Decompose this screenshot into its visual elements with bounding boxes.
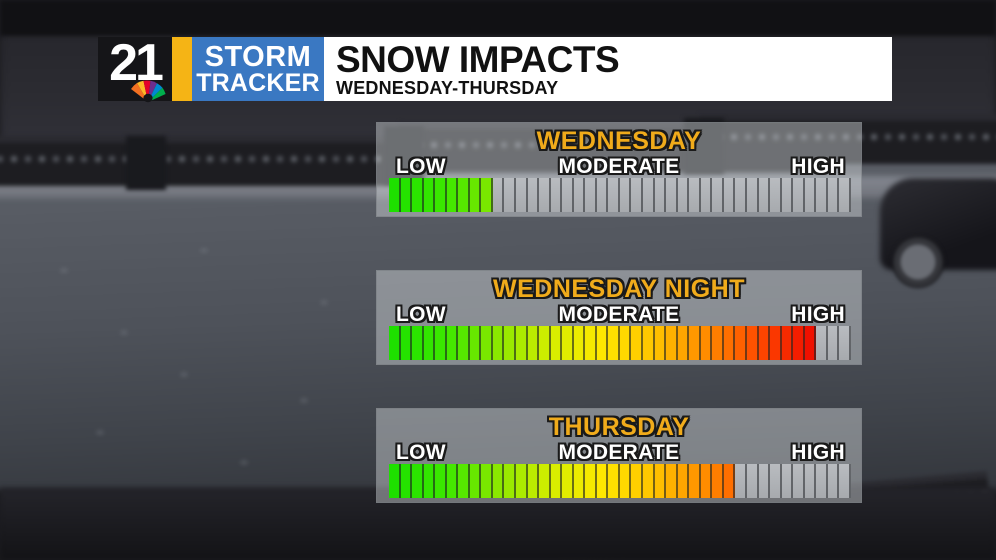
gauge-segment-filled: [447, 178, 459, 212]
gauge-segment-filled: [597, 326, 609, 360]
gauge-segment-filled: [793, 326, 805, 360]
railing-left: [0, 140, 400, 186]
gauge-segment-filled: [539, 326, 551, 360]
gauge-segment-filled: [782, 326, 794, 360]
gauge-segment-empty: [516, 178, 528, 212]
brand-line-2: TRACKER: [196, 71, 320, 96]
gauge-segment-empty: [689, 178, 701, 212]
gauge-segment-empty: [735, 178, 747, 212]
gauge-segment-filled: [470, 464, 482, 498]
gauge-segment-filled: [631, 326, 643, 360]
gauge-segment-empty: [747, 464, 759, 498]
header-bar: 21 STORM TRACKER SNOW IMPACTS WEDNESDAY-…: [98, 37, 892, 101]
gauge-segment-filled: [585, 326, 597, 360]
gauge-segment-empty: [724, 178, 736, 212]
gauge-segment-filled: [458, 326, 470, 360]
gauge-segment-empty: [551, 178, 563, 212]
car-wheel: [892, 236, 944, 288]
nbc-peacock-icon: [125, 73, 171, 103]
gauge-segment-empty: [770, 178, 782, 212]
gauge-segment-filled: [435, 326, 447, 360]
page-title: SNOW IMPACTS: [336, 41, 892, 79]
gauge-segment-filled: [805, 326, 817, 360]
gauge-segment-filled: [585, 464, 597, 498]
gauge-segment-empty: [759, 464, 771, 498]
gauge-segment-filled: [689, 464, 701, 498]
gauge-segment-filled: [401, 178, 413, 212]
gauge-segment-filled: [458, 464, 470, 498]
gauge-segment-filled: [516, 464, 528, 498]
gauge-segment-filled: [724, 464, 736, 498]
gauge-segment-filled: [504, 464, 516, 498]
gauge-segment-filled: [481, 326, 493, 360]
gauge-segment-empty: [793, 178, 805, 212]
gauge-segment-empty: [805, 178, 817, 212]
gauge-segment-filled: [712, 326, 724, 360]
gauge-segment-filled: [424, 326, 436, 360]
gauge-segment-empty: [828, 326, 840, 360]
gauge-segment-filled: [643, 326, 655, 360]
background-top-shadow: [0, 0, 996, 36]
logo-accent-bar: [172, 37, 192, 101]
gauge-segment-empty: [782, 464, 794, 498]
gauge-segment-filled: [597, 464, 609, 498]
impact-gauge: [389, 326, 851, 360]
gauge-segment-empty: [839, 464, 851, 498]
impact-panel-wednesday-night: WEDNESDAY NIGHT LOW MODERATE HIGH: [376, 270, 862, 365]
gauge-segment-empty: [574, 178, 586, 212]
gauge-segment-filled: [481, 464, 493, 498]
gauge-segment-filled: [759, 326, 771, 360]
gauge-segment-filled: [712, 464, 724, 498]
gauge-segment-empty: [608, 178, 620, 212]
gauge-segment-filled: [401, 326, 413, 360]
gauge-segment-filled: [689, 326, 701, 360]
impact-panel-wednesday: WEDNESDAY LOW MODERATE HIGH: [376, 122, 862, 217]
gauge-segment-empty: [655, 178, 667, 212]
railing-post-1: [126, 136, 166, 190]
impact-gauge: [389, 178, 851, 212]
gauge-segment-filled: [389, 464, 401, 498]
storm-tracker-brand: STORM TRACKER: [192, 37, 324, 101]
gauge-segment-filled: [447, 326, 459, 360]
gauge-segment-filled: [701, 326, 713, 360]
title-block: SNOW IMPACTS WEDNESDAY-THURSDAY: [324, 37, 892, 101]
gauge-segment-filled: [412, 326, 424, 360]
gauge-segment-filled: [412, 464, 424, 498]
gauge-segment-filled: [735, 326, 747, 360]
panel-title: WEDNESDAY: [377, 127, 861, 156]
scale-label-high: HIGH: [791, 441, 845, 465]
brand-line-1: STORM: [205, 43, 312, 71]
gauge-segment-filled: [504, 326, 516, 360]
gauge-segment-empty: [701, 178, 713, 212]
panel-title: WEDNESDAY NIGHT: [377, 275, 861, 304]
gauge-segment-empty: [712, 178, 724, 212]
gauge-segment-empty: [828, 178, 840, 212]
gauge-segment-empty: [528, 178, 540, 212]
gauge-segment-filled: [701, 464, 713, 498]
impact-gauge: [389, 464, 851, 498]
scale-label-moderate: MODERATE: [377, 155, 861, 179]
scale-label-moderate: MODERATE: [377, 303, 861, 327]
gauge-segment-filled: [412, 178, 424, 212]
gauge-segment-filled: [747, 326, 759, 360]
scale-label-moderate: MODERATE: [377, 441, 861, 465]
gauge-segment-filled: [539, 464, 551, 498]
gauge-segment-filled: [666, 464, 678, 498]
gauge-segment-filled: [447, 464, 459, 498]
gauge-segment-filled: [770, 326, 782, 360]
gauge-segment-filled: [631, 464, 643, 498]
gauge-segment-empty: [493, 178, 505, 212]
gauge-segment-filled: [620, 464, 632, 498]
gauge-segment-empty: [620, 178, 632, 212]
gauge-segment-empty: [816, 178, 828, 212]
gauge-segment-filled: [389, 326, 401, 360]
scale-labels: LOW MODERATE HIGH: [377, 155, 861, 179]
gauge-segment-filled: [655, 326, 667, 360]
gauge-segment-filled: [608, 464, 620, 498]
scale-labels: LOW MODERATE HIGH: [377, 303, 861, 327]
gauge-segment-filled: [574, 464, 586, 498]
gauge-segment-filled: [470, 178, 482, 212]
gauge-segment-empty: [805, 464, 817, 498]
gauge-segment-filled: [493, 464, 505, 498]
page-subtitle: WEDNESDAY-THURSDAY: [336, 79, 892, 98]
gauge-segment-filled: [516, 326, 528, 360]
gauge-segment-filled: [470, 326, 482, 360]
gauge-segment-empty: [816, 464, 828, 498]
gauge-segment-empty: [782, 178, 794, 212]
gauge-segment-filled: [528, 326, 540, 360]
gauge-segment-filled: [608, 326, 620, 360]
gauge-segment-filled: [551, 326, 563, 360]
gauge-segment-filled: [389, 178, 401, 212]
gauge-segment-filled: [724, 326, 736, 360]
gauge-segment-empty: [839, 178, 851, 212]
scale-label-high: HIGH: [791, 155, 845, 179]
gauge-segment-empty: [839, 326, 851, 360]
gauge-segment-empty: [759, 178, 771, 212]
gauge-segment-filled: [424, 178, 436, 212]
gauge-segment-empty: [631, 178, 643, 212]
gauge-segment-empty: [678, 178, 690, 212]
gauge-segment-filled: [643, 464, 655, 498]
gauge-segment-empty: [504, 178, 516, 212]
gauge-segment-empty: [562, 178, 574, 212]
gauge-segment-filled: [678, 464, 690, 498]
gauge-segment-filled: [493, 326, 505, 360]
gauge-segment-filled: [401, 464, 413, 498]
gauge-segment-empty: [539, 178, 551, 212]
gauge-segment-empty: [597, 178, 609, 212]
gauge-segment-filled: [435, 464, 447, 498]
gauge-segment-empty: [666, 178, 678, 212]
gauge-segment-filled: [435, 178, 447, 212]
gauge-segment-filled: [574, 326, 586, 360]
gauge-segment-filled: [551, 464, 563, 498]
gauge-segment-filled: [620, 326, 632, 360]
gauge-segment-empty: [643, 178, 655, 212]
panel-title: THURSDAY: [377, 413, 861, 442]
gauge-segment-filled: [528, 464, 540, 498]
gauge-segment-filled: [458, 178, 470, 212]
gauge-segment-filled: [562, 326, 574, 360]
channel-logo: 21: [98, 37, 172, 101]
scale-label-high: HIGH: [791, 303, 845, 327]
impact-panel-thursday: THURSDAY LOW MODERATE HIGH: [376, 408, 862, 503]
scale-labels: LOW MODERATE HIGH: [377, 441, 861, 465]
gauge-segment-empty: [816, 326, 828, 360]
gauge-segment-filled: [481, 178, 493, 212]
gauge-segment-empty: [770, 464, 782, 498]
gauge-segment-filled: [655, 464, 667, 498]
gauge-segment-empty: [828, 464, 840, 498]
gauge-segment-filled: [666, 326, 678, 360]
gauge-segment-empty: [793, 464, 805, 498]
gauge-segment-filled: [424, 464, 436, 498]
gauge-segment-filled: [678, 326, 690, 360]
gauge-segment-filled: [562, 464, 574, 498]
gauge-segment-empty: [585, 178, 597, 212]
gauge-segment-empty: [747, 178, 759, 212]
gauge-segment-empty: [735, 464, 747, 498]
